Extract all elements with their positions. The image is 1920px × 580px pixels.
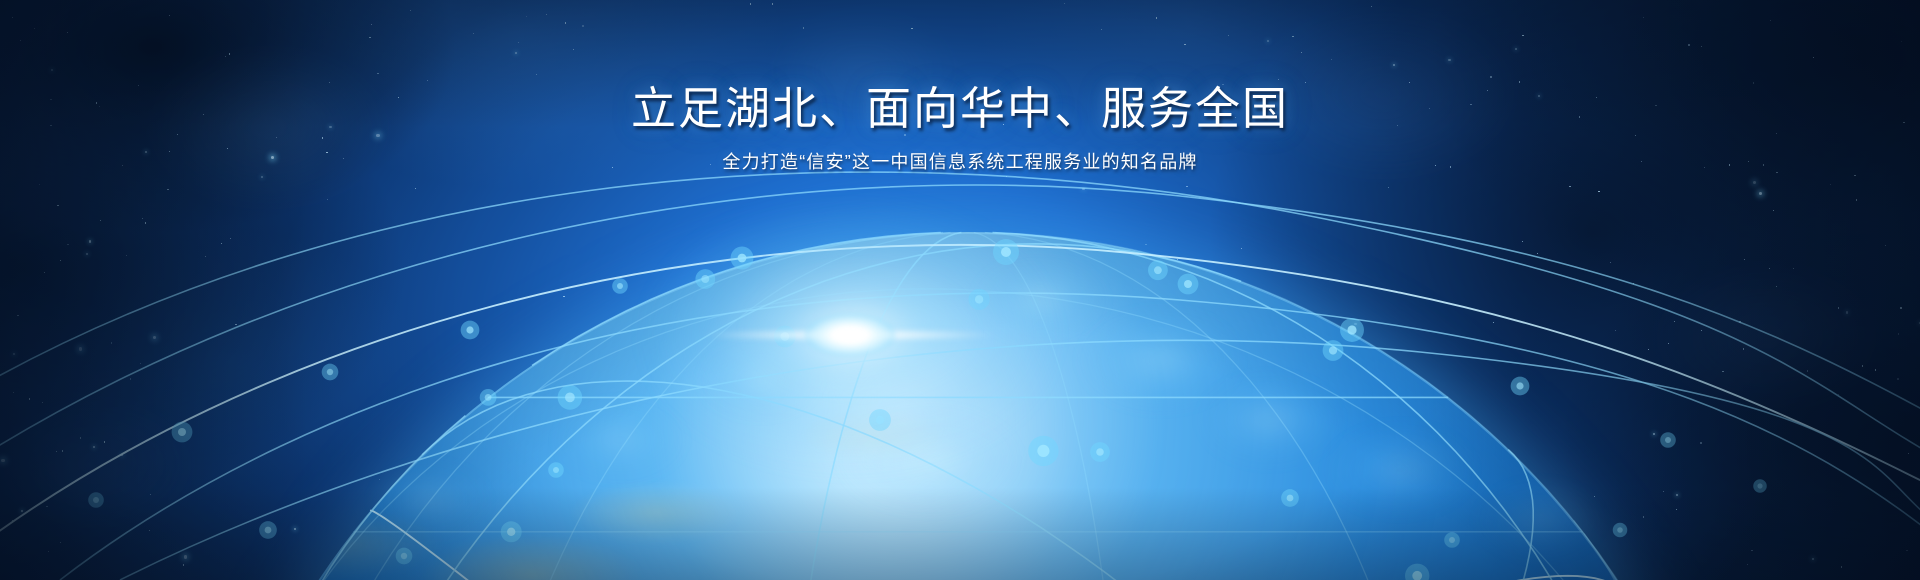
banner-copy: 立足湖北、面向华中、服务全国 全力打造“信安”这一中国信息系统工程服务业的知名品… xyxy=(0,86,1920,171)
network-node xyxy=(265,527,272,534)
network-arc xyxy=(339,534,1696,580)
network-arc xyxy=(370,511,1565,580)
network-node xyxy=(1329,346,1337,354)
hero-banner: 立足湖北、面向华中、服务全国 全力打造“信安”这一中国信息系统工程服务业的知名品… xyxy=(0,0,1920,580)
network-node xyxy=(1516,382,1523,389)
network-node xyxy=(1096,448,1104,456)
network-node xyxy=(1184,280,1192,288)
network-node xyxy=(1287,495,1294,502)
network-node xyxy=(1037,445,1049,457)
network-node xyxy=(93,497,99,503)
network-node xyxy=(401,553,407,559)
network-node xyxy=(1665,437,1671,443)
center-light-burst xyxy=(850,335,851,336)
network-node xyxy=(1154,266,1162,274)
network-node xyxy=(553,467,559,473)
network-node xyxy=(1757,483,1762,488)
network-arc xyxy=(350,520,1674,580)
network-node xyxy=(1617,527,1623,533)
network-arc xyxy=(985,233,1448,580)
network-node xyxy=(565,393,575,403)
network-node xyxy=(1449,537,1455,543)
network-node xyxy=(507,528,515,536)
network-node xyxy=(327,369,333,375)
network-node xyxy=(617,283,623,289)
banner-subline: 全力打造“信安”这一中国信息系统工程服务业的知名品牌 xyxy=(0,153,1920,171)
banner-headline: 立足湖北、面向华中、服务全国 xyxy=(0,86,1920,131)
network-node xyxy=(178,428,186,436)
network-node xyxy=(485,394,492,401)
network-arc xyxy=(422,450,1533,580)
network-node xyxy=(466,326,473,333)
burst-core xyxy=(804,313,896,357)
network-node xyxy=(1347,325,1356,334)
network-arc xyxy=(993,233,1670,580)
